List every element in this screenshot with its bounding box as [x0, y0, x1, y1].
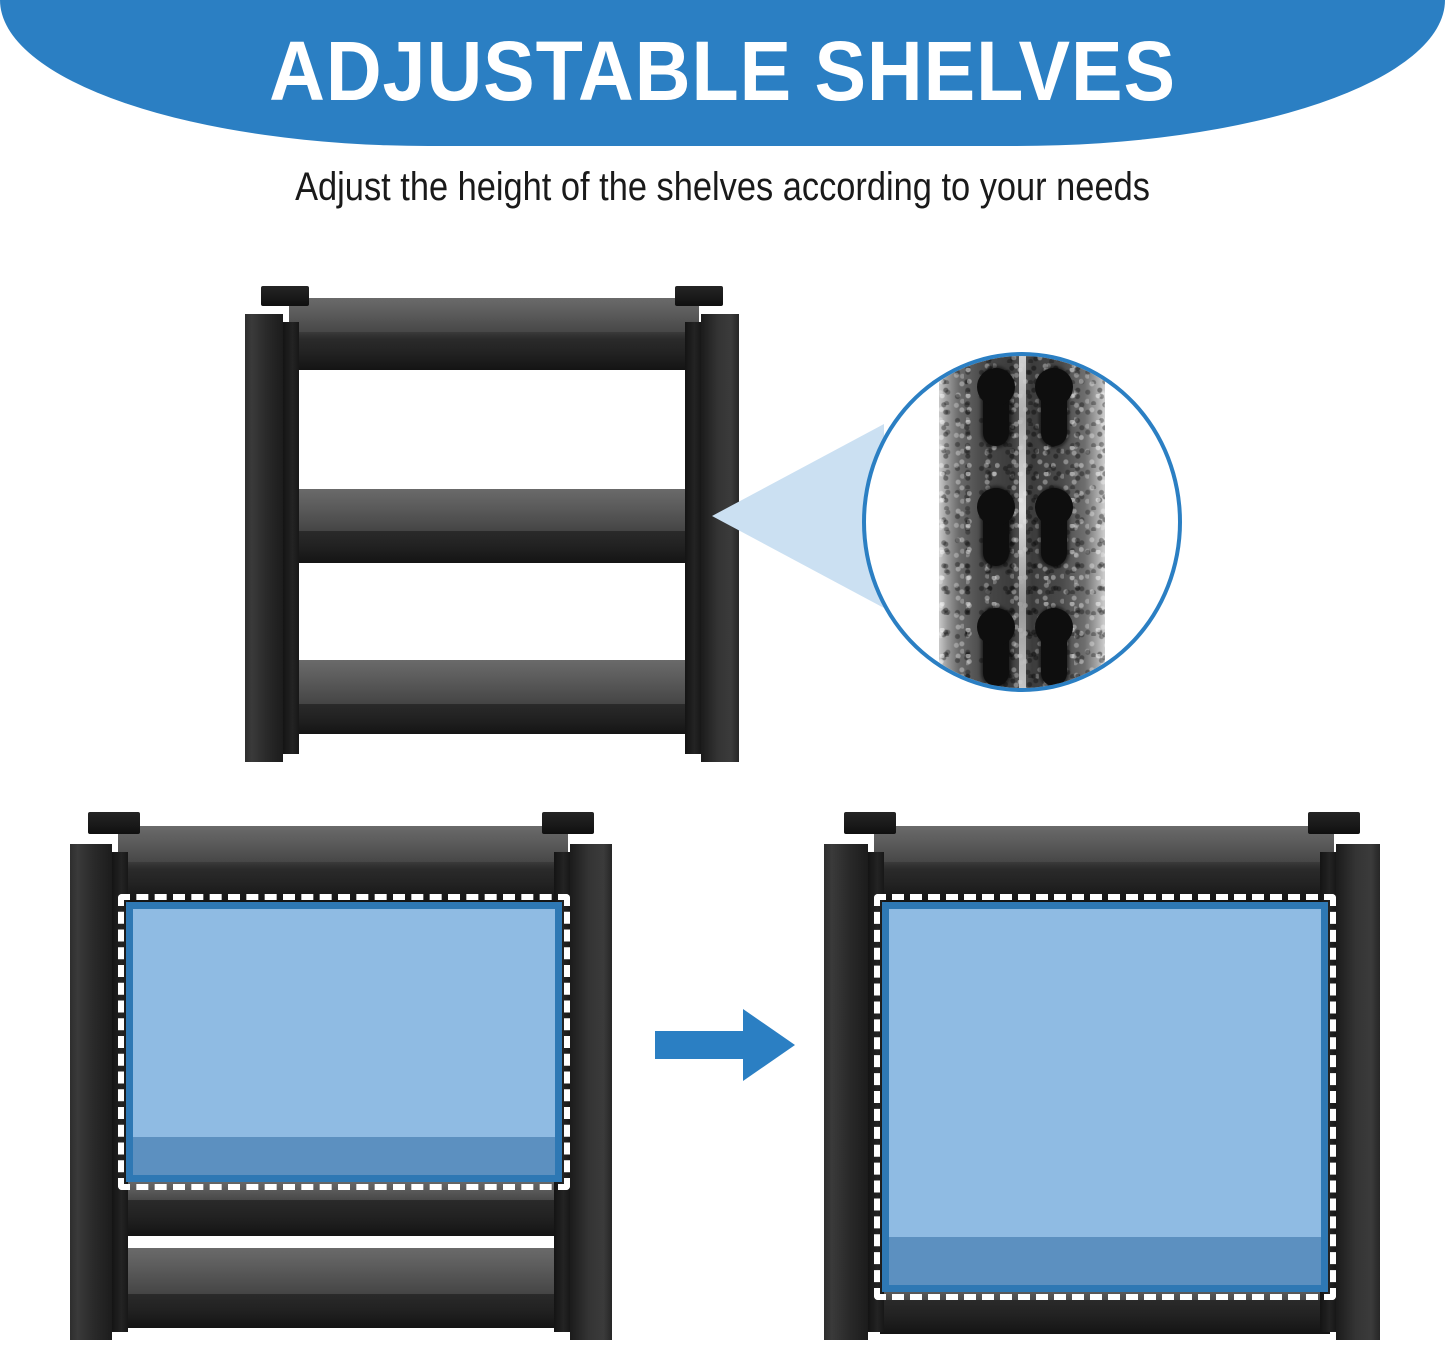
magnifier-pointer-cone: [712, 424, 884, 608]
keyhole-head: [977, 368, 1015, 406]
magnifier-circle: [862, 352, 1182, 692]
before-unit-alt: Shelving unit with a short highlighted c…: [68, 812, 69, 813]
top-shelf-surface: [874, 826, 1334, 864]
post-left: [70, 844, 112, 1340]
magnifier-callout: Close-up of the slotted upright post sho…: [862, 352, 1182, 692]
bottom-shelf-beam: [124, 1294, 564, 1328]
middle-shelf-beam: [295, 531, 695, 563]
bottom-shelf-beam: [880, 1300, 1330, 1334]
keyhole-head: [1035, 488, 1073, 526]
keyhole-slot: [1041, 488, 1067, 566]
bottom-shelf-surface: [126, 1248, 558, 1294]
page-title: ADJUSTABLE SHELVES: [58, 0, 1387, 146]
space-dashed-outline: [874, 894, 1336, 1300]
middle-shelf-surface: [299, 489, 689, 531]
post-cap-right: [1308, 812, 1360, 834]
keyhole-slot: [983, 608, 1009, 686]
post-cap-right: [675, 286, 723, 306]
top-unit-alt: Black three-tier adjustable metal shelvi…: [243, 286, 244, 287]
top-shelf-beam: [295, 340, 695, 370]
post-right: [1336, 844, 1380, 1340]
highlighted-space-after: [882, 902, 1328, 1292]
transition-arrow: [655, 1005, 795, 1085]
bottom-shelf-beam: [295, 704, 695, 734]
keyhole-slot: [1041, 368, 1067, 446]
arrow-right-icon: [655, 1009, 795, 1081]
page-subtitle: Adjust the height of the shelves accordi…: [101, 163, 1344, 211]
space-dashed-outline: [118, 894, 570, 1190]
post-cap-right: [542, 812, 594, 834]
shelf-after-adjustment: Same shelving unit with the middle shelf…: [822, 812, 1382, 1342]
post-left: [824, 844, 868, 1340]
magnifier-alt: Close-up of the slotted upright post sho…: [862, 352, 863, 353]
three-tier-shelf-unit: Black three-tier adjustable metal shelvi…: [243, 286, 743, 764]
bottom-shelf-surface: [299, 660, 689, 704]
keyhole-head: [1035, 608, 1073, 646]
post-cap-left: [844, 812, 896, 834]
header-banner: ADJUSTABLE SHELVES: [0, 0, 1445, 146]
post-left: [245, 314, 283, 762]
keyhole-slot: [983, 488, 1009, 566]
post-right: [570, 844, 612, 1340]
post-right-flange: [685, 322, 701, 754]
post-left-flange: [283, 322, 299, 754]
post-cap-left: [88, 812, 140, 834]
keyhole-slot: [1041, 608, 1067, 686]
after-unit-alt: Same shelving unit with the middle shelf…: [822, 812, 823, 813]
highlighted-space-before: [126, 902, 562, 1182]
keyhole-head: [977, 608, 1015, 646]
keyhole-slot: [983, 368, 1009, 446]
shelf-before-adjustment: Shelving unit with a short highlighted c…: [68, 812, 616, 1342]
top-shelf-surface: [289, 298, 699, 334]
middle-shelf-beam: [124, 1200, 564, 1236]
top-shelf-surface: [118, 826, 568, 864]
keyhole-head: [977, 488, 1015, 526]
magnified-post-texture: [939, 352, 1105, 692]
post-cap-left: [261, 286, 309, 306]
keyhole-head: [1035, 368, 1073, 406]
